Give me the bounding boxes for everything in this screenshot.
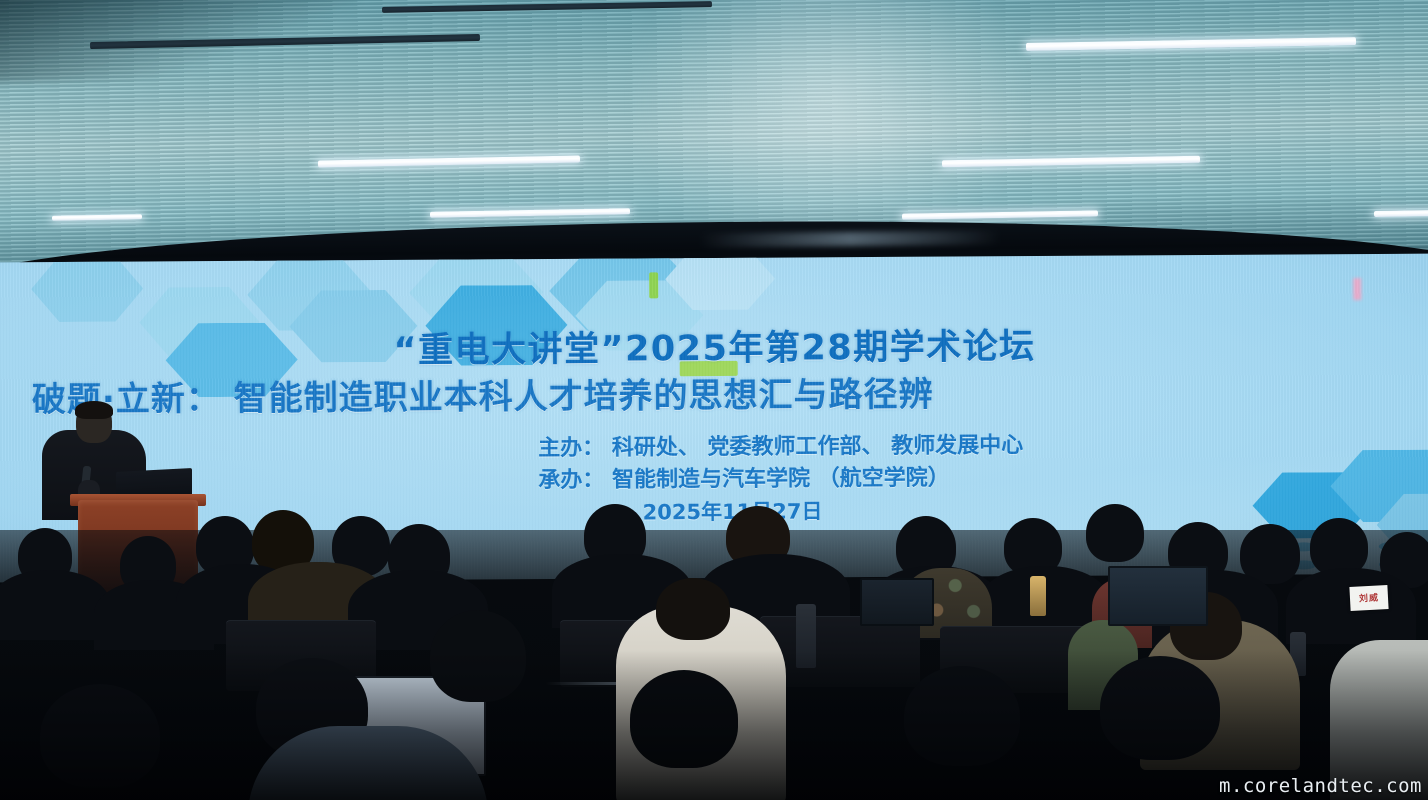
thermos-bottle [796, 604, 816, 668]
audience-head-front [40, 684, 160, 788]
slide-title-line-2: 破题·立新： 智能制造职业本科人才培养的思想汇与路径辨 [32, 367, 934, 422]
site-watermark: m.corelandtec.com [1219, 775, 1422, 797]
green-accent-mark-1 [649, 272, 658, 298]
audience-head-front [630, 670, 738, 768]
audience-head [656, 578, 730, 640]
attendee-name-card: 刘威 [1349, 585, 1388, 611]
audience-head-front [904, 666, 1020, 766]
ceiling-light-8 [1374, 209, 1428, 217]
audience-head-front [430, 610, 526, 702]
slide-host-line: 主办： 科研处、 党委教师工作部、 教师发展中心 [538, 430, 1023, 465]
water-bottle [1030, 576, 1046, 616]
audience-area: 刘威 [0, 470, 1428, 800]
photo-canvas: “重电大讲堂”2025年第28期学术论坛 破题·立新： 智能制造职业本科人才培养… [0, 0, 1428, 800]
slide-title-line-1: “重电大讲堂”2025年第28期学术论坛 [0, 316, 1428, 376]
speaker-hair [75, 401, 113, 419]
audience-head-front [1100, 656, 1220, 760]
audience-head [1086, 504, 1144, 562]
audience-laptop [1108, 566, 1208, 626]
name-card-text: 刘威 [1349, 585, 1388, 611]
screen-pixel-artifact [1353, 278, 1361, 300]
audience-laptop [860, 578, 934, 626]
